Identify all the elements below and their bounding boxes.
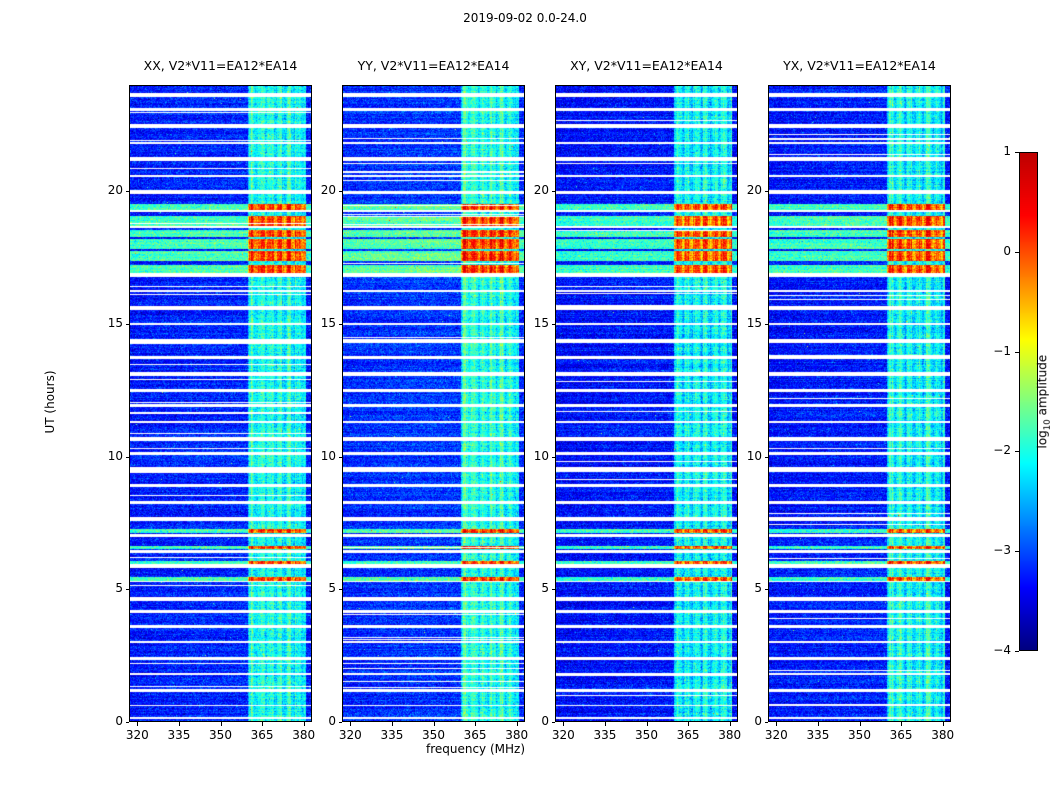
colorbar-tick-label: −1 bbox=[967, 344, 1011, 358]
x-tickmark bbox=[350, 722, 351, 726]
x-axis-label: frequency (MHz) bbox=[0, 742, 951, 756]
colorbar-tick-label: −4 bbox=[967, 643, 1011, 657]
y-tick-label: 5 bbox=[722, 581, 762, 595]
spectrum-panel-yy[interactable] bbox=[342, 85, 525, 722]
y-tick-label: 15 bbox=[509, 316, 549, 330]
y-tickmark bbox=[126, 722, 130, 723]
y-tickmark bbox=[765, 324, 769, 325]
y-tick-label: 20 bbox=[83, 183, 123, 197]
y-tick-label: 10 bbox=[83, 449, 123, 463]
y-tick-label: 20 bbox=[296, 183, 336, 197]
y-tick-label: 10 bbox=[296, 449, 336, 463]
y-axis-label: UT (hours) bbox=[43, 302, 57, 502]
x-tickmark bbox=[647, 722, 648, 726]
y-tickmark bbox=[339, 722, 343, 723]
x-tickmark bbox=[818, 722, 819, 726]
colorbar-tickmark bbox=[1015, 152, 1019, 153]
y-tickmark bbox=[339, 457, 343, 458]
colorbar-tickmark bbox=[1015, 451, 1019, 452]
y-tickmark bbox=[765, 589, 769, 590]
colorbar-tickmark bbox=[1015, 252, 1019, 253]
y-tickmark bbox=[552, 457, 556, 458]
figure-suptitle: 2019-09-02 0.0-24.0 bbox=[0, 11, 1050, 25]
y-tick-label: 10 bbox=[509, 449, 549, 463]
colorbar-tick-label: 0 bbox=[967, 244, 1011, 258]
spectrum-image-yx bbox=[769, 86, 950, 721]
colorbar-tick-label: −3 bbox=[967, 543, 1011, 557]
x-tickmark bbox=[688, 722, 689, 726]
y-tick-label: 0 bbox=[722, 714, 762, 728]
y-tickmark bbox=[552, 722, 556, 723]
y-tick-label: 15 bbox=[296, 316, 336, 330]
x-tick-label: 380 bbox=[279, 728, 329, 742]
y-tickmark bbox=[765, 457, 769, 458]
x-tickmark bbox=[221, 722, 222, 726]
x-tickmark bbox=[392, 722, 393, 726]
y-tick-label: 20 bbox=[509, 183, 549, 197]
y-tickmark bbox=[552, 324, 556, 325]
x-tickmark bbox=[137, 722, 138, 726]
colorbar-tick-label: 1 bbox=[967, 144, 1011, 158]
colorbar-tickmark bbox=[1015, 551, 1019, 552]
x-tickmark bbox=[776, 722, 777, 726]
y-tick-label: 10 bbox=[722, 449, 762, 463]
y-tick-label: 5 bbox=[83, 581, 123, 595]
x-tickmark bbox=[943, 722, 944, 726]
spectrum-image-yy bbox=[343, 86, 524, 721]
y-tick-label: 0 bbox=[296, 714, 336, 728]
spectrum-panel-xy[interactable] bbox=[555, 85, 738, 722]
panel-title-yx: YX, V2*V11=EA12*EA14 bbox=[728, 58, 991, 73]
y-tick-label: 15 bbox=[722, 316, 762, 330]
y-tickmark bbox=[552, 191, 556, 192]
y-tickmark bbox=[552, 589, 556, 590]
y-tickmark bbox=[126, 589, 130, 590]
x-tickmark bbox=[860, 722, 861, 726]
y-tickmark bbox=[765, 191, 769, 192]
x-tick-label: 380 bbox=[492, 728, 542, 742]
x-tickmark bbox=[179, 722, 180, 726]
y-tick-label: 5 bbox=[509, 581, 549, 595]
colorbar-tick-label: −2 bbox=[967, 443, 1011, 457]
y-tick-label: 15 bbox=[83, 316, 123, 330]
x-tick-label: 380 bbox=[918, 728, 968, 742]
y-tickmark bbox=[126, 324, 130, 325]
x-tickmark bbox=[901, 722, 902, 726]
x-tickmark bbox=[563, 722, 564, 726]
spectrum-image-xy bbox=[556, 86, 737, 721]
y-tickmark bbox=[339, 191, 343, 192]
y-tickmark bbox=[765, 722, 769, 723]
colorbar-tickmark bbox=[1015, 651, 1019, 652]
x-tick-label: 380 bbox=[705, 728, 755, 742]
y-tickmark bbox=[126, 457, 130, 458]
y-tick-label: 5 bbox=[296, 581, 336, 595]
y-tickmark bbox=[339, 589, 343, 590]
y-tick-label: 0 bbox=[83, 714, 123, 728]
x-tickmark bbox=[475, 722, 476, 726]
spectrum-image-xx bbox=[130, 86, 311, 721]
dynamic-spectrum-figure: 2019-09-02 0.0-24.0 XX, V2*V11=EA12*EA14… bbox=[0, 0, 1050, 800]
x-tickmark bbox=[605, 722, 606, 726]
spectrum-panel-xx[interactable] bbox=[129, 85, 312, 722]
y-tick-label: 0 bbox=[509, 714, 549, 728]
colorbar-tickmark bbox=[1015, 352, 1019, 353]
x-tickmark bbox=[262, 722, 263, 726]
spectrum-panel-yx[interactable] bbox=[768, 85, 951, 722]
y-tick-label: 20 bbox=[722, 183, 762, 197]
y-tickmark bbox=[339, 324, 343, 325]
colorbar-label: log10 amplitude bbox=[1035, 291, 1050, 511]
x-tickmark bbox=[434, 722, 435, 726]
y-tickmark bbox=[126, 191, 130, 192]
